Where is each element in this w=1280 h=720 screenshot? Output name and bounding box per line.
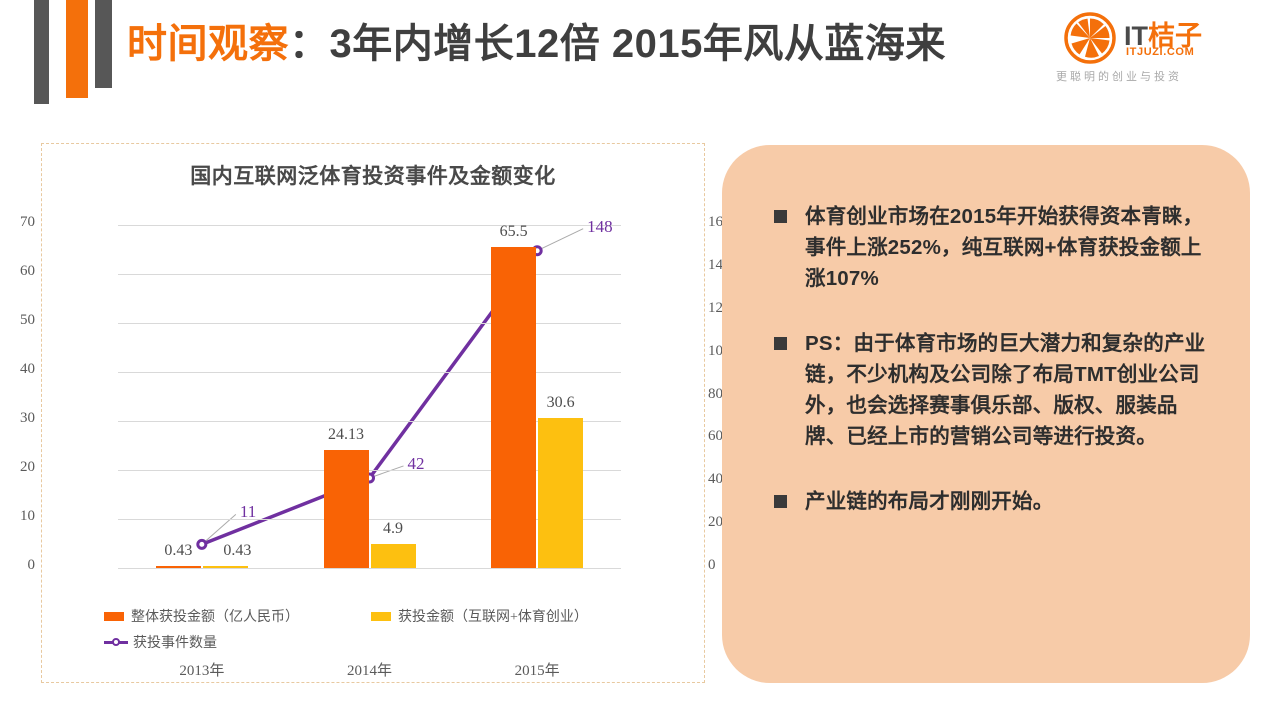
- gridline: [118, 323, 621, 324]
- chart-title: 国内互联网泛体育投资事件及金额变化: [42, 160, 704, 190]
- bar-total-amount: [156, 566, 201, 568]
- note-item: 体育创业市场在2015年开始获得资本青睐，事件上涨252%，纯互联网+体育获投金…: [774, 201, 1214, 294]
- bar-internet-sports-amount: [203, 566, 248, 568]
- line-value-label: 42: [408, 454, 468, 474]
- decor-bar-gray-right: [95, 0, 112, 88]
- legend-label-total-amount: 整体获投金额（亿人民币）: [131, 606, 299, 626]
- line-series-path: [202, 251, 537, 545]
- y-axis-left-tick: 0: [0, 557, 35, 574]
- x-axis-category-label: 2013年: [132, 659, 272, 680]
- orange-slice-icon: [1064, 12, 1116, 64]
- y-axis-left-tick: 40: [0, 361, 35, 378]
- legend-label-event-count: 获投事件数量: [133, 632, 217, 652]
- y-axis-left-tick: 10: [0, 508, 35, 525]
- bar-value-label: 4.9: [348, 520, 438, 538]
- line-value-label: 148: [587, 217, 647, 237]
- y-axis-left-tick: 20: [0, 459, 35, 476]
- bar-value-label: 0.43: [192, 542, 282, 560]
- logo-domain: ITJUZI.COM: [1126, 46, 1194, 58]
- y-axis-left-tick: 60: [0, 263, 35, 280]
- legend-row-2: 获投事件数量: [104, 632, 704, 652]
- decor-bar-orange: [66, 0, 88, 98]
- y-axis-left-tick: 30: [0, 410, 35, 427]
- x-axis-category-label: 2015年: [467, 659, 607, 680]
- notes-list: 体育创业市场在2015年开始获得资本青睐，事件上涨252%，纯互联网+体育获投金…: [774, 201, 1214, 551]
- legend-item-internet-sports-amount: 获投金额（互联网+体育创业）: [371, 606, 588, 626]
- bar-internet-sports-amount: [538, 418, 583, 568]
- chart-plot-area: 7060504030201001601401201008060402000.43…: [118, 225, 621, 568]
- square-bullet-icon: [774, 337, 787, 350]
- square-bullet-icon: [774, 210, 787, 223]
- chart-panel: 国内互联网泛体育投资事件及金额变化 7060504030201001601401…: [41, 143, 705, 683]
- line-value-label: 11: [240, 502, 300, 522]
- note-item: 产业链的布局才刚刚开始。: [774, 486, 1214, 517]
- legend-item-event-count: 获投事件数量: [104, 632, 217, 652]
- bar-value-label: 65.5: [469, 223, 559, 241]
- note-text: PS：由于体育市场的巨大潜力和复杂的产业链，不少机构及公司除了布局TMT创业公司…: [805, 328, 1214, 452]
- legend-item-total-amount: 整体获投金额（亿人民币）: [104, 606, 299, 626]
- legend-row-1: 整体获投金额（亿人民币） 获投金额（互联网+体育创业）: [104, 606, 704, 626]
- slide-root: 时间观察：3年内增长12倍 2015年风从蓝海来 IT桔子 ITJUZI.COM…: [0, 0, 1280, 720]
- page-title: 时间观察：3年内增长12倍 2015年风从蓝海来: [127, 14, 946, 74]
- note-item: PS：由于体育市场的巨大潜力和复杂的产业链，不少机构及公司除了布局TMT创业公司…: [774, 328, 1214, 452]
- slide-header: 时间观察：3年内增长12倍 2015年风从蓝海来 IT桔子 ITJUZI.COM…: [0, 0, 1280, 120]
- bar-internet-sports-amount: [371, 544, 416, 568]
- gridline: [118, 568, 621, 569]
- legend-label-internet-sports-amount: 获投金额（互联网+体育创业）: [398, 606, 588, 626]
- notes-panel: 体育创业市场在2015年开始获得资本青睐，事件上涨252%，纯互联网+体育获投金…: [722, 145, 1250, 683]
- y-axis-left-tick: 50: [0, 312, 35, 329]
- x-axis-category-label: 2014年: [300, 659, 440, 680]
- gridline: [118, 274, 621, 275]
- gridline: [118, 372, 621, 373]
- logo-tagline: 更聪明的创业与投资: [1056, 68, 1182, 84]
- note-text: 体育创业市场在2015年开始获得资本青睐，事件上涨252%，纯互联网+体育获投金…: [805, 201, 1214, 294]
- page-title-highlight: 时间观察: [127, 22, 289, 66]
- page-title-rest: ：3年内增长12倍 2015年风从蓝海来: [289, 22, 946, 66]
- decor-bar-gray-left: [34, 0, 49, 104]
- note-text: 产业链的布局才刚刚开始。: [805, 486, 1053, 517]
- bar-total-amount: [324, 450, 369, 568]
- legend-swatch-icon-primary: [104, 612, 124, 621]
- legend-line-marker-icon: [104, 637, 128, 647]
- y-axis-left-tick: 70: [0, 214, 35, 231]
- brand-logo: IT桔子 ITJUZI.COM 更聪明的创业与投资: [1046, 8, 1256, 92]
- bar-value-label: 24.13: [301, 426, 391, 444]
- square-bullet-icon: [774, 495, 787, 508]
- bar-value-label: 30.6: [516, 394, 606, 412]
- chart-legend: 整体获投金额（亿人民币） 获投金额（互联网+体育创业） 获投事件数量: [104, 606, 704, 658]
- legend-swatch-icon-secondary: [371, 612, 391, 621]
